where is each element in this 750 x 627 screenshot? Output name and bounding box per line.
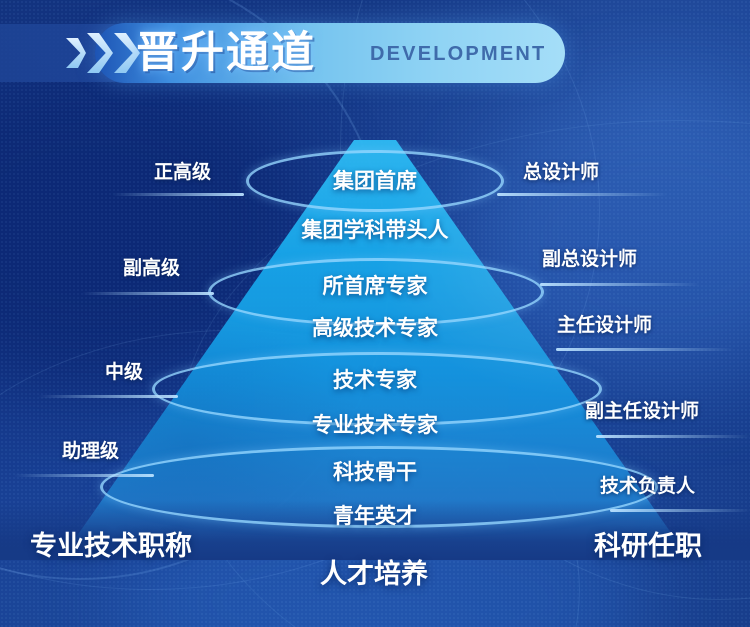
pyramid-tier-1: 集团学科带头人 <box>0 214 750 244</box>
pyramid-tier-4: 技术专家 <box>0 364 750 394</box>
page-title: 晋升通道 <box>136 24 316 82</box>
promotion-path-infographic: 晋升通道 DEVELOPMENT 正高级 副高级 中级 助理级 总设计师 副总设… <box>0 0 750 627</box>
left-column-caption: 专业技术职称 <box>30 524 192 563</box>
pyramid-tier-0: 集团首席 <box>0 165 750 195</box>
pyramid-tier-2: 所首席专家 <box>0 270 750 300</box>
left-divider-2 <box>38 395 178 398</box>
right-divider-2 <box>556 348 734 351</box>
center-column-caption: 人才培养 <box>320 552 428 591</box>
right-column-caption: 科研任职 <box>594 524 702 563</box>
chevron-right-icon <box>66 38 86 68</box>
page-subtitle: DEVELOPMENT <box>370 24 546 84</box>
pyramid-tier-6: 科技骨干 <box>0 456 750 486</box>
pyramid-tier-3: 高级技术专家 <box>0 312 750 342</box>
right-level-1: 副总设计师 <box>542 244 637 271</box>
pyramid-tier-5: 专业技术专家 <box>0 409 750 439</box>
chevron-right-icon <box>87 33 113 73</box>
